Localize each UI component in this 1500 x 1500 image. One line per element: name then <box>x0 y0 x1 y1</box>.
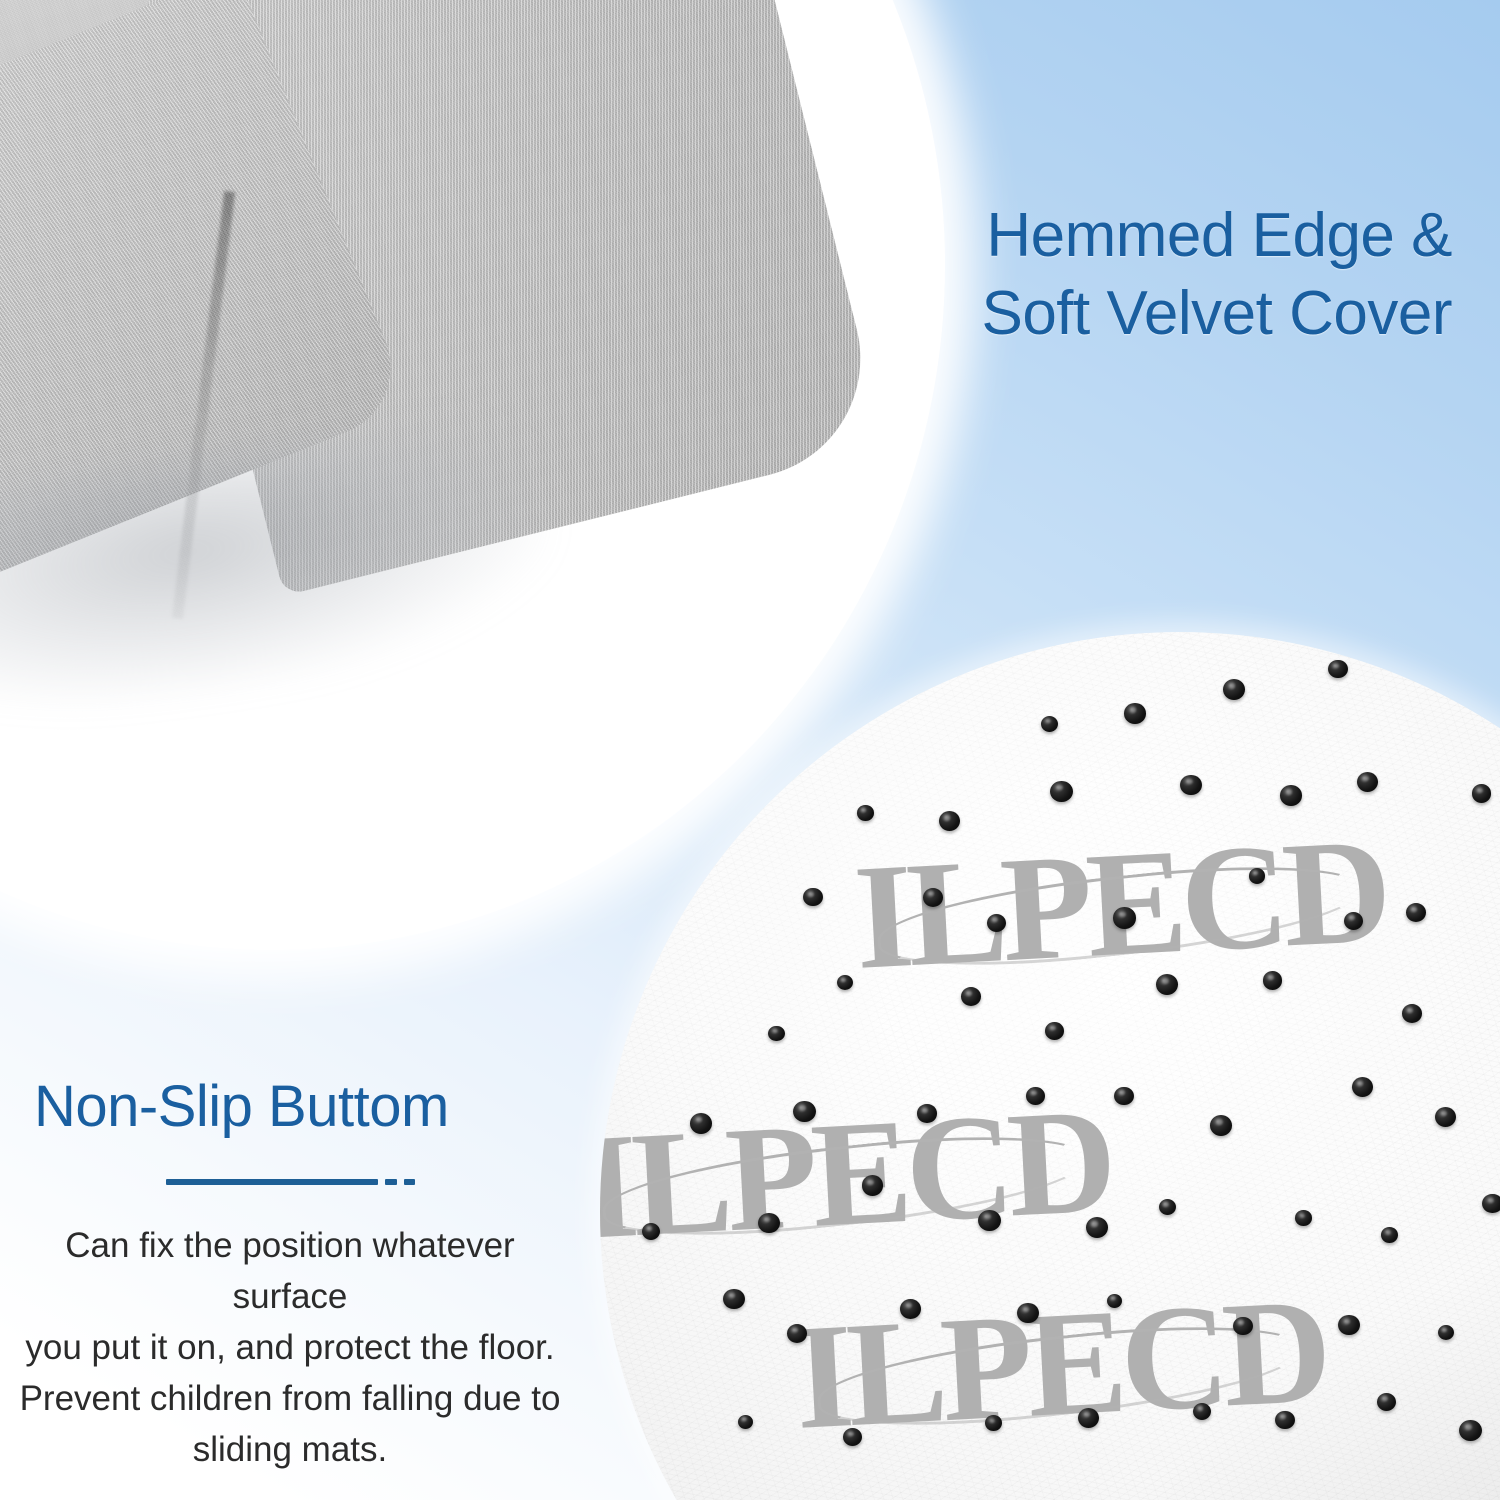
feature-desc-line-2: you put it on, and protect the floor. <box>12 1322 568 1373</box>
non-slip-dot <box>1402 1004 1422 1023</box>
non-slip-dot <box>1338 1315 1360 1336</box>
non-slip-dot <box>738 1415 753 1429</box>
non-slip-dot <box>862 1175 884 1195</box>
non-slip-dot <box>1328 660 1347 678</box>
non-slip-dot <box>1280 785 1302 805</box>
non-slip-dot <box>758 1213 780 1234</box>
non-slip-dot <box>939 811 960 831</box>
non-slip-dot <box>1124 703 1146 723</box>
non-slip-dot <box>1352 1077 1373 1097</box>
feature-desc-line-3: Prevent children from falling due to <box>12 1373 568 1424</box>
non-slip-dot <box>1026 1087 1045 1105</box>
non-slip-dot <box>1482 1194 1500 1213</box>
non-slip-dot <box>1113 907 1136 928</box>
non-slip-dot <box>1249 868 1265 883</box>
non-slip-dot <box>690 1113 712 1134</box>
feature-block: Non-Slip Buttom Can fix the position wha… <box>12 1075 568 1475</box>
non-slip-dot <box>642 1223 660 1240</box>
non-slip-dot <box>1114 1087 1133 1105</box>
feature-description: Can fix the position whatever surface yo… <box>12 1220 568 1475</box>
non-slip-base-photo: ILPECD ILPECD ILPECD <box>600 632 1500 1500</box>
non-slip-dot <box>1472 784 1492 803</box>
divider-bar <box>166 1179 378 1185</box>
headline-line-2: Soft Velvet Cover <box>712 275 1452 353</box>
non-slip-dot <box>961 987 981 1006</box>
non-slip-dot <box>1193 1403 1211 1420</box>
non-slip-dot <box>1357 772 1378 792</box>
non-slip-dot <box>787 1324 807 1343</box>
infographic-canvas: ILPECD ILPECD ILPECD Hemmed Edge & Soft … <box>0 0 1500 1500</box>
non-slip-dot <box>917 1104 936 1122</box>
non-slip-dot <box>1275 1411 1295 1430</box>
feature-title: Non-Slip Buttom <box>12 1075 568 1139</box>
title-divider <box>12 1179 568 1186</box>
non-slip-dot <box>723 1289 744 1309</box>
non-slip-dot <box>900 1299 921 1319</box>
non-slip-dot <box>978 1210 1001 1231</box>
non-slip-dot <box>987 914 1006 932</box>
non-slip-dot <box>1377 1393 1396 1411</box>
non-slip-dot <box>1295 1210 1312 1226</box>
non-slip-dot <box>1344 912 1363 930</box>
watermark-text: ILPECD <box>791 1267 1330 1461</box>
non-slip-dot <box>923 888 943 907</box>
headline-line-1: Hemmed Edge & <box>712 197 1452 275</box>
feature-desc-line-1: Can fix the position whatever surface <box>12 1220 568 1322</box>
feature-desc-line-4: sliding mats. <box>12 1424 568 1475</box>
non-slip-dot <box>1438 1325 1454 1340</box>
non-slip-dot <box>1017 1303 1038 1323</box>
watermark-text: ILPECD <box>600 1077 1114 1271</box>
non-slip-dot <box>803 888 822 906</box>
non-slip-dot <box>1233 1317 1253 1335</box>
watermark-bottom: ILPECD <box>790 1264 1329 1464</box>
headline: Hemmed Edge & Soft Velvet Cover <box>712 197 1452 353</box>
divider-dash-2 <box>404 1179 415 1185</box>
non-slip-dot <box>1045 1022 1064 1040</box>
non-slip-dot <box>1263 971 1283 990</box>
non-slip-dot <box>857 805 873 820</box>
divider-dash-1 <box>385 1179 397 1185</box>
non-slip-dot <box>1050 781 1073 802</box>
